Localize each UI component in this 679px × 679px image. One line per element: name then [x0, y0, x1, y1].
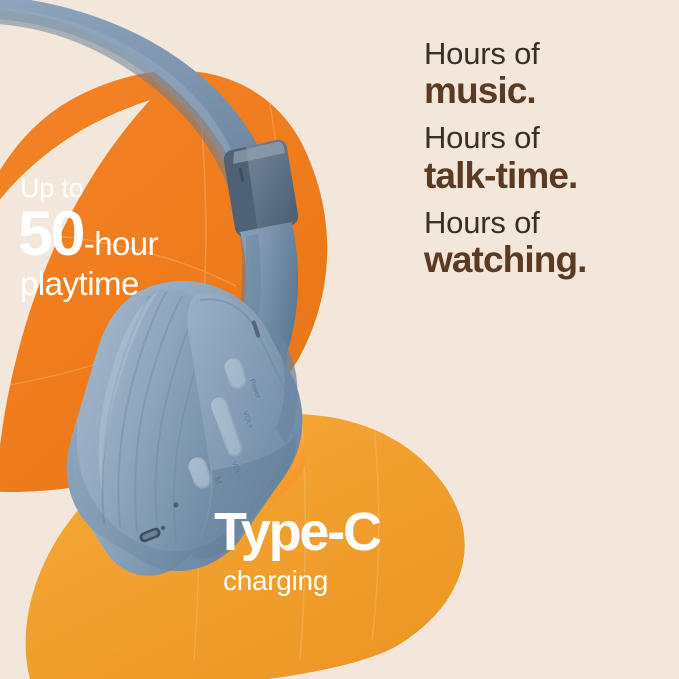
playtime-figure: 50 -hour: [18, 206, 248, 264]
playtime-badge: Up to 50 -hour playtime: [18, 175, 248, 300]
copy-group-watching: Hours of watching.: [424, 205, 674, 280]
product-feature-image: Power VOL+ VOL- M: [0, 0, 679, 679]
mic-pinhole: [173, 502, 178, 507]
copy-bold-2: talk-time.: [424, 156, 674, 196]
playtime-number: 50: [18, 206, 83, 264]
hours-of-copy: Hours of music. Hours of talk-time. Hour…: [424, 36, 674, 289]
copy-light-2: Hours of: [424, 120, 674, 155]
copy-bold-3: watching.: [424, 240, 674, 280]
copy-group-talk-time: Hours of talk-time.: [424, 120, 674, 195]
copy-group-music: Hours of music.: [424, 36, 674, 111]
copy-light-3: Hours of: [424, 205, 674, 240]
playtime-subject: playtime: [20, 267, 248, 300]
copy-light-1: Hours of: [424, 36, 674, 71]
playtime-prefix: Up to: [20, 175, 248, 202]
playtime-unit: -hour: [84, 227, 158, 260]
charging-badge: Type-C charging: [214, 505, 444, 595]
copy-bold-1: music.: [424, 71, 674, 111]
charging-subtitle: charging: [223, 567, 444, 595]
charging-title: Type-C: [214, 505, 444, 559]
